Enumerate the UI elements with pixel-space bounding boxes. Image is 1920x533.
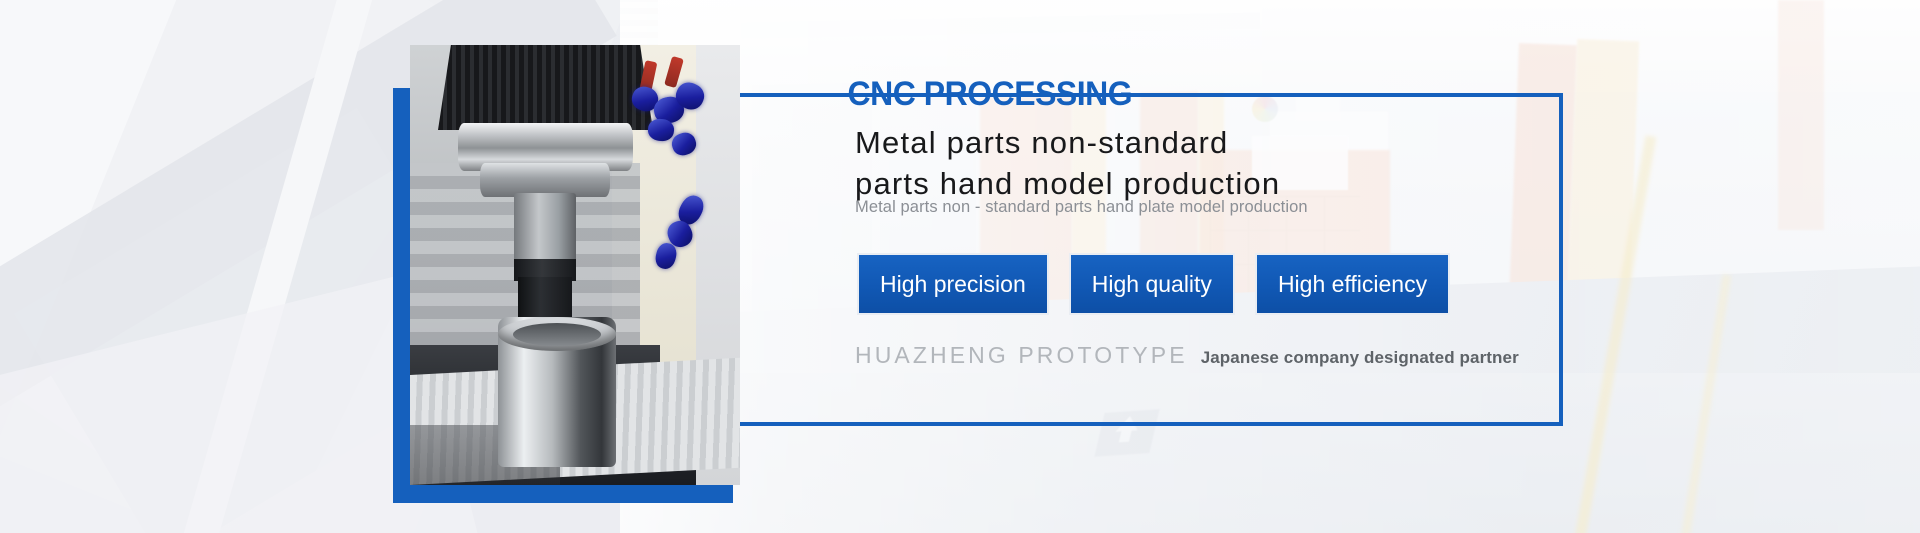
kicker-rule-right [1160, 93, 1563, 97]
feature-tag-high-precision[interactable]: High precision [857, 253, 1049, 315]
tool-holder [514, 193, 576, 265]
feature-tag-high-quality[interactable]: High quality [1069, 253, 1235, 315]
feature-tag-high-efficiency[interactable]: High efficiency [1255, 253, 1450, 315]
cnc-machine-photo [410, 45, 740, 485]
banner-footer: HUAZHENG PROTOTYPE Japanese company desi… [855, 342, 1519, 369]
banner-headline: Metal parts non-standard parts hand mode… [855, 122, 1555, 204]
workpiece-bore [513, 323, 601, 346]
partner-statement: Japanese company designated partner [1201, 348, 1519, 368]
banner-subtitle: Metal parts non - standard parts hand pl… [855, 198, 1308, 217]
spindle-housing [438, 45, 653, 130]
feature-tag-list: High precision High quality High efficie… [857, 253, 1450, 315]
kicker-rule-left [733, 93, 835, 97]
cnc-processing-banner: CNC PROCESSING Metal parts non-standard … [0, 0, 1920, 533]
brand-name: HUAZHENG PROTOTYPE [855, 342, 1188, 369]
headline-line-1: Metal parts non-standard [855, 122, 1555, 163]
banner-kicker: CNC PROCESSING [840, 75, 1140, 114]
spindle-collar-lower [480, 163, 610, 197]
